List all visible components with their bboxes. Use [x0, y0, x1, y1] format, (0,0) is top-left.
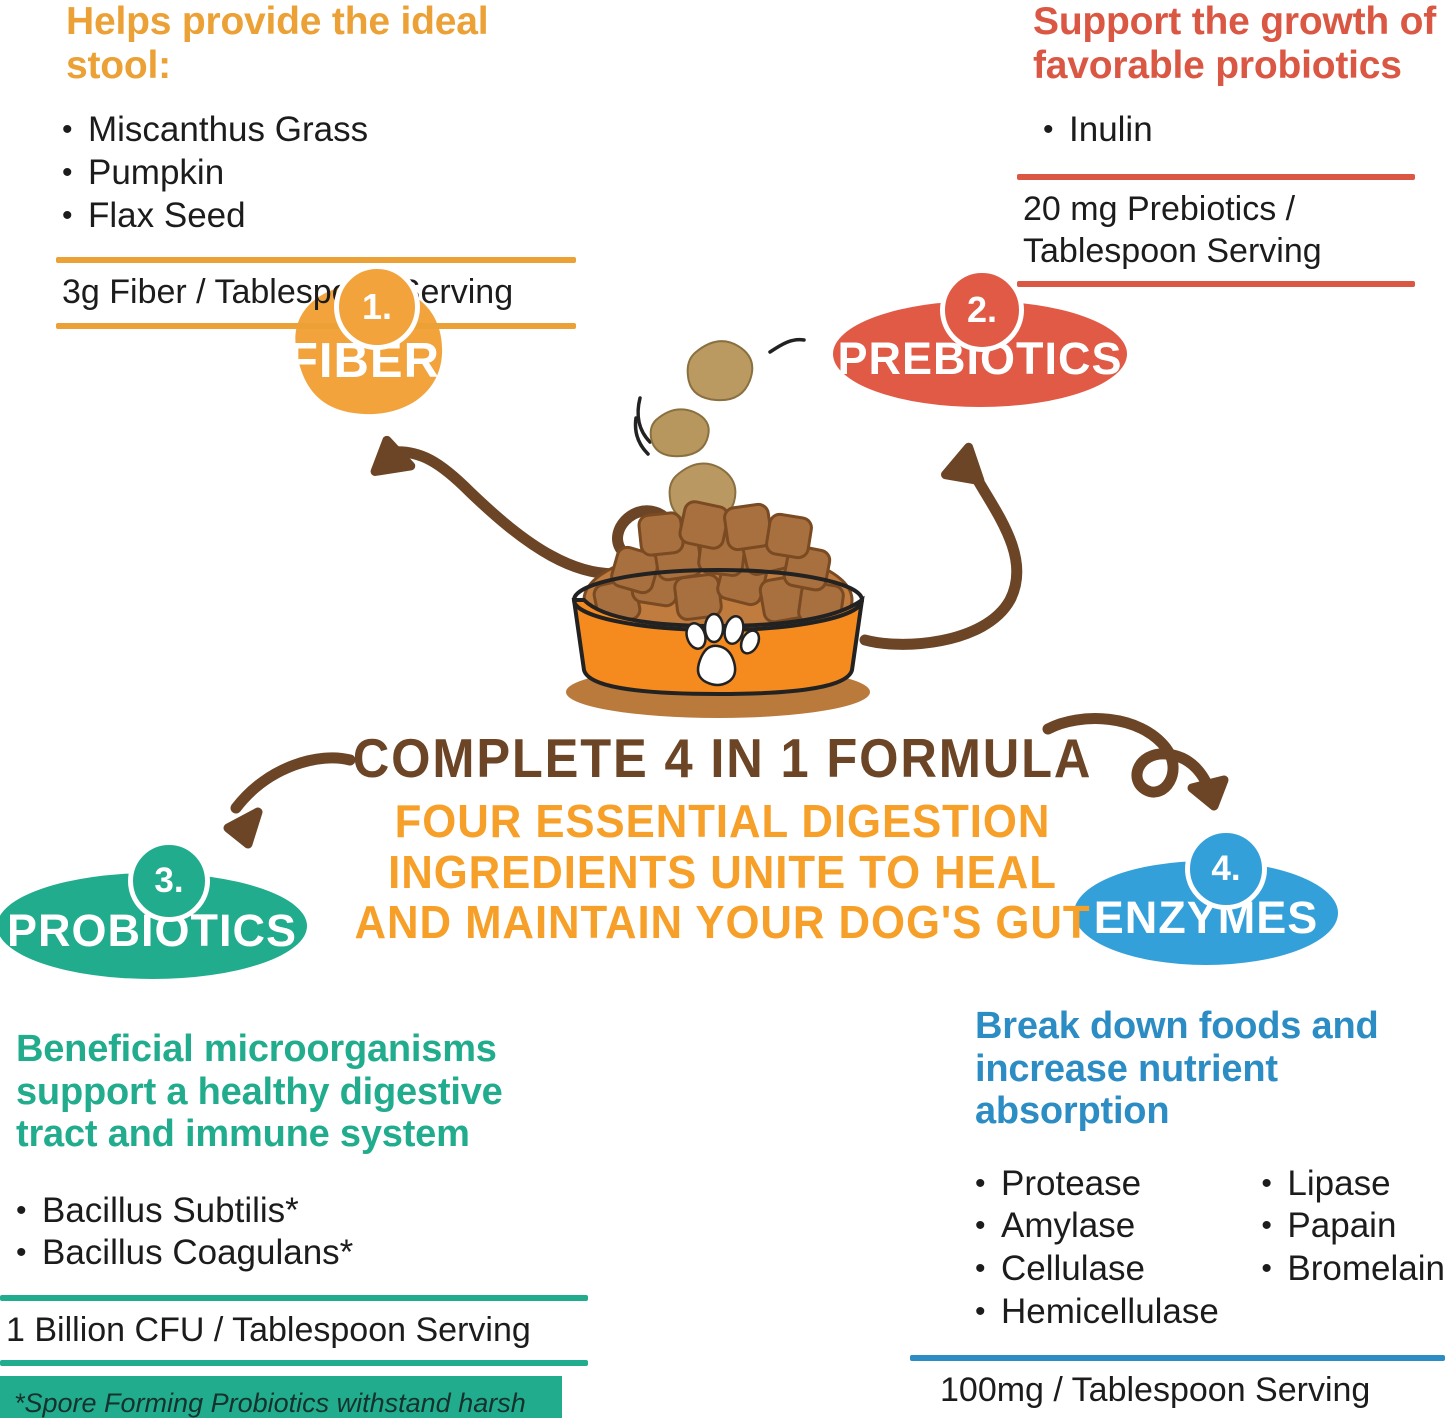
fiber-ingredient-list: Miscanthus Grass Pumpkin Flax Seed [0, 109, 588, 237]
arrowhead-prebiotics [945, 444, 985, 481]
list-item: Flax Seed [62, 195, 588, 238]
prebiotics-ingredient-list: Inulin [1005, 109, 1445, 152]
fiber-heading: Helps provide the ideal stool: [0, 0, 588, 87]
prebiotics-serving-text: 20 mg Prebiotics / Tablespoon Serving [1017, 180, 1415, 281]
prebiotics-rule-bottom [1017, 281, 1415, 287]
probiotics-rule-bottom [0, 1360, 588, 1366]
fiber-serving-text: 3g Fiber / Tablespoon Serving [56, 263, 576, 322]
list-item: Lipase [1261, 1163, 1445, 1206]
badge-number-enzymes: 4. [1185, 828, 1267, 910]
fiber-rule-bottom [56, 323, 576, 329]
probiotics-footnote: *Spore Forming Probiotics withstand hars… [0, 1376, 562, 1418]
list-item: Cellulase [975, 1248, 1261, 1291]
badge-number-fiber: 1. [334, 264, 420, 350]
list-item: Hemicellulase [975, 1291, 1261, 1334]
list-item: Inulin [1043, 109, 1445, 152]
enzymes-serving-text: 100mg / Tablespoon Serving [910, 1361, 1445, 1418]
list-item: Papain [1261, 1205, 1445, 1248]
list-item: Protease [975, 1163, 1261, 1206]
list-item: Miscanthus Grass [62, 109, 588, 152]
badge-enzymes[interactable]: 4. ENZYMES [1073, 860, 1339, 966]
enzymes-heading: Break down foods and increase nutrient a… [943, 1005, 1395, 1133]
badge-prebiotics[interactable]: 2. PREBIOTICS [832, 300, 1128, 408]
infographic-canvas: 1. FIBER 2. PREBIOTICS 3. PROBIOTICS 4. … [0, 0, 1445, 1418]
list-item: Amylase [975, 1205, 1261, 1248]
panel-probiotics: Beneficial microorganisms support a heal… [0, 1028, 598, 1418]
list-item: Bacillus Coagulans* [16, 1232, 598, 1275]
enzymes-list-left: Protease Amylase Cellulase Hemicellulase [975, 1163, 1261, 1334]
probiotics-ingredient-list: Bacillus Subtilis* Bacillus Coagulans* [0, 1190, 598, 1275]
panel-prebiotics: Support the growth of favorable probioti… [1005, 0, 1445, 287]
list-item: Bacillus Subtilis* [16, 1190, 598, 1233]
arrowhead-probiotics [228, 812, 258, 844]
arrow-to-probiotics [236, 758, 350, 808]
prebiotics-heading: Support the growth of favorable probioti… [1005, 0, 1445, 87]
badge-probiotics[interactable]: 3. PROBIOTICS [0, 872, 308, 980]
probiotics-serving-text: 1 Billion CFU / Tablespoon Serving [0, 1301, 588, 1360]
panel-fiber: Helps provide the ideal stool: Miscanthu… [0, 0, 588, 329]
list-item: Bromelain [1261, 1248, 1445, 1291]
badge-number-prebiotics: 2. [940, 268, 1024, 352]
arrowhead-enzymes [1192, 780, 1224, 806]
probiotics-heading: Beneficial microorganisms support a heal… [0, 1028, 536, 1156]
badge-number-probiotics: 3. [128, 840, 210, 922]
enzymes-ingredient-columns: Protease Amylase Cellulase Hemicellulase… [943, 1163, 1445, 1334]
arrowhead-fiber [369, 437, 410, 474]
enzymes-list-right: Lipase Papain Bromelain [1261, 1163, 1445, 1334]
panel-enzymes: Break down foods and increase nutrient a… [943, 1005, 1445, 1418]
arrow-to-enzymes [1048, 719, 1212, 798]
list-item: Pumpkin [62, 152, 588, 195]
